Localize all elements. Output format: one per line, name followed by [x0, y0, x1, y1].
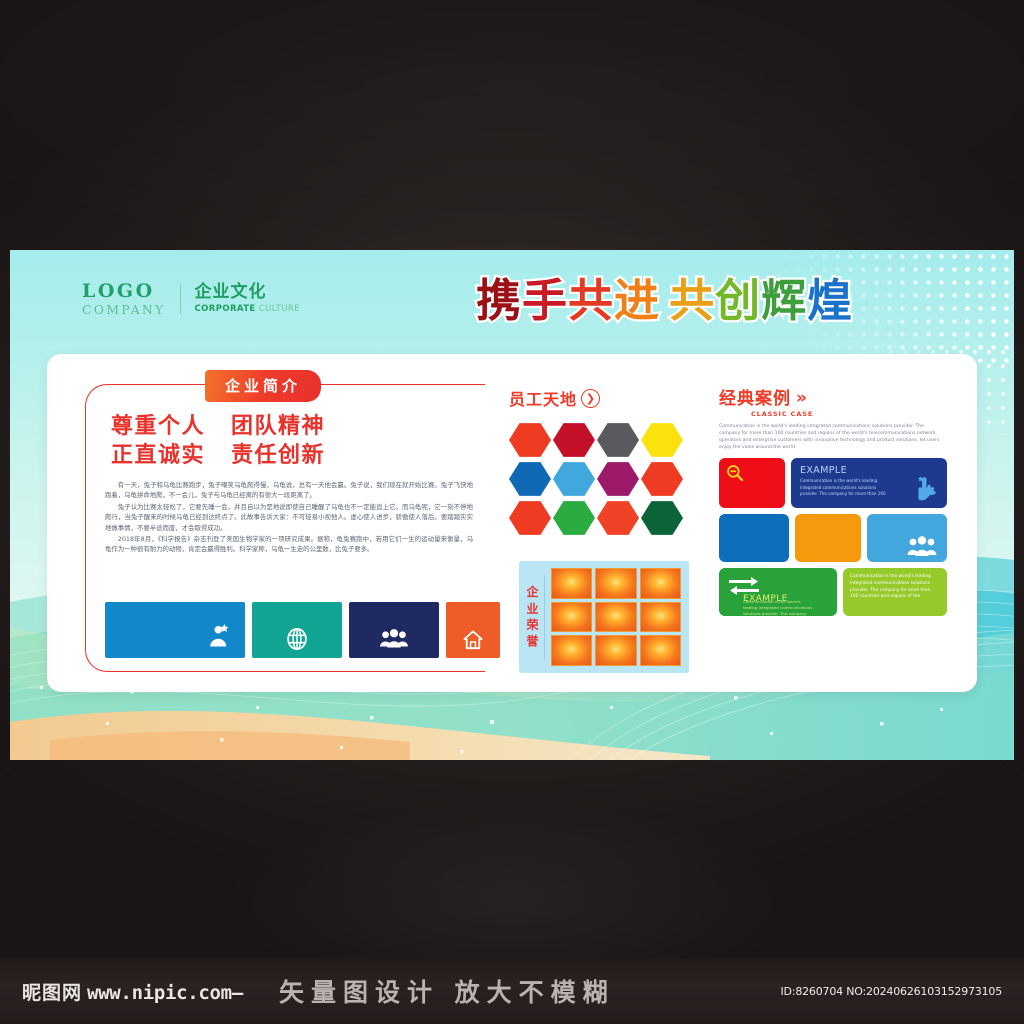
- case-tile-text[interactable]: Communication is the world's leading int…: [843, 568, 947, 616]
- case-row: EXAMPLE Communication is the world's lea…: [719, 568, 947, 616]
- intro-paragraph: 兔子认为比赛太轻松了，它要先睡一会，并且自以为是地说即使自己睡醒了乌龟也不一定能…: [105, 502, 473, 533]
- honor-label-char: 业: [525, 602, 540, 616]
- hexagon-cell[interactable]: [597, 461, 639, 497]
- company-intro-section: 企业简介 尊重个人团队精神 正直诚实责任创新 有一天，兔子和乌龟比赛跑步，兔子嘲…: [85, 384, 485, 672]
- hexagon-cell[interactable]: [597, 500, 639, 536]
- classic-case-section: 经典案例 » CLASSIC CASE Communication is the…: [719, 384, 947, 622]
- hexagon-cell[interactable]: [597, 422, 639, 458]
- case-text-body: Communication is the world's leading int…: [850, 574, 938, 601]
- company-honor-label: 企业荣誉: [525, 575, 545, 659]
- hexagon-cell[interactable]: [509, 500, 551, 536]
- company-honor-panel: 企业荣誉: [519, 561, 689, 673]
- logo-cn-subtitle: CORPORATE CULTURE: [195, 305, 300, 314]
- logo-cn-block: 企业文化 CORPORATE CULTURE: [195, 284, 300, 314]
- honor-label-char: 企: [525, 585, 540, 599]
- title-char: 创: [715, 278, 761, 323]
- honor-cell[interactable]: [640, 635, 681, 666]
- honor-cell[interactable]: [640, 602, 681, 633]
- home-icon: [461, 628, 485, 652]
- logo-sub-text: COMPANY: [82, 304, 166, 317]
- globe-icon: [284, 626, 310, 652]
- logo-block: LOGO COMPANY 企业文化 CORPORATE CULTURE: [82, 282, 300, 317]
- case-tile-blue[interactable]: [719, 514, 789, 562]
- case-tile-example-green[interactable]: EXAMPLE Communication is the world's lea…: [719, 568, 837, 616]
- title-char: 进: [614, 278, 660, 323]
- intro-paragraph: 2018年8月，《科学报告》杂志刊登了美国生物学家的一项研究成果。据称，龟兔赛跑…: [105, 534, 473, 555]
- company-intro-badge: 企业简介: [205, 370, 321, 402]
- employee-zone-heading: 员工天地 ❯: [509, 386, 704, 410]
- title-char: 手: [522, 278, 568, 323]
- people-icon: [906, 533, 938, 559]
- classic-case-subtitle: CLASSIC CASE: [751, 410, 947, 418]
- logo-cn-title: 企业文化: [195, 284, 300, 302]
- title-char: 辉: [761, 278, 807, 323]
- hexagon-photo-grid: [509, 422, 687, 536]
- company-honor-grid: [551, 568, 681, 666]
- honor-cell[interactable]: [551, 635, 592, 666]
- intro-icon-row: [105, 602, 500, 658]
- case-row: EXAMPLE Communication is the world's lea…: [719, 458, 947, 508]
- watermark-site-url: www.nipic.com—: [87, 982, 243, 1004]
- poster-canvas: LOGO COMPANY 企业文化 CORPORATE CULTURE 携手共进…: [10, 250, 1014, 760]
- page-title: 携手共进共创辉煌: [476, 278, 853, 323]
- intro-paragraph: 有一天，兔子和乌龟比赛跑步，兔子嘲笑乌龟爬得慢，乌龟说，总有一天他会赢。兔子说，…: [105, 480, 473, 501]
- title-char: 共: [568, 278, 614, 323]
- icon-tile-person-star[interactable]: [105, 602, 245, 658]
- employee-zone-section: 员工天地 ❯ 企业荣誉: [509, 386, 704, 536]
- slogan-2a: 正直诚实: [111, 443, 205, 468]
- logo-main-text: LOGO: [82, 282, 166, 301]
- watermark-id: ID:8260704 NO:20240626103152973105: [781, 985, 1002, 998]
- hexagon-cell[interactable]: [553, 422, 595, 458]
- example-navy-body: Communication is the world's leading int…: [800, 478, 888, 496]
- classic-case-description: Communication is the world's leading int…: [719, 423, 941, 451]
- watermark-bar: 昵图网 www.nipic.com— 矢量图设计 放大不模糊 ID:826070…: [0, 958, 1024, 1024]
- hexagon-cell[interactable]: [553, 500, 595, 536]
- slogan-2b: 责任创新: [231, 443, 325, 468]
- hexagon-cell[interactable]: [509, 461, 551, 497]
- honor-cell[interactable]: [551, 602, 592, 633]
- double-chevron-icon: »: [796, 387, 807, 409]
- hexagon-cell[interactable]: [641, 422, 683, 458]
- hexagon-cell[interactable]: [641, 461, 683, 497]
- classic-case-tiles: EXAMPLE Communication is the world's lea…: [719, 458, 947, 616]
- company-intro-body: 有一天，兔子和乌龟比赛跑步，兔子嘲笑乌龟爬得慢，乌龟说，总有一天他会赢。兔子说，…: [105, 480, 473, 556]
- case-tile-magnifier[interactable]: [719, 458, 785, 508]
- honor-cell[interactable]: [640, 568, 681, 599]
- employee-zone-title: 员工天地: [509, 386, 577, 410]
- honor-cell[interactable]: [595, 635, 636, 666]
- icon-tile-globe[interactable]: [252, 602, 342, 658]
- hexagon-cell[interactable]: [553, 461, 595, 497]
- company-slogan: 尊重个人团队精神 正直诚实责任创新: [111, 412, 325, 470]
- case-tile-example-navy[interactable]: EXAMPLE Communication is the world's lea…: [791, 458, 947, 508]
- logo-text: LOGO COMPANY: [82, 282, 166, 317]
- hexagon-cell[interactable]: [641, 500, 683, 536]
- person-star-icon: [205, 622, 235, 652]
- watermark-slogan: 矢量图设计 放大不模糊: [279, 973, 615, 1009]
- slogan-1a: 尊重个人: [111, 414, 205, 439]
- watermark-site: 昵图网 www.nipic.com—: [22, 978, 243, 1005]
- title-char: 煌: [807, 278, 853, 323]
- case-row: [719, 514, 947, 562]
- case-tile-people[interactable]: [867, 514, 947, 562]
- honor-cell[interactable]: [595, 602, 636, 633]
- content-card: 企业简介 尊重个人团队精神 正直诚实责任创新 有一天，兔子和乌龟比赛跑步，兔子嘲…: [47, 354, 977, 692]
- honor-label-char: 荣: [525, 618, 540, 632]
- logo-cn-subtitle-light: CULTURE: [259, 304, 300, 314]
- slogan-1b: 团队精神: [231, 414, 325, 439]
- title-char: 共: [669, 278, 715, 323]
- people-group-icon: [379, 626, 409, 652]
- icon-tile-home[interactable]: [446, 602, 500, 658]
- chevron-right-icon[interactable]: ❯: [581, 389, 600, 408]
- title-char: 携: [476, 278, 522, 323]
- example-green-body: Communication is the world's leading int…: [743, 599, 815, 617]
- classic-case-heading: 经典案例 »: [719, 384, 947, 409]
- honor-cell[interactable]: [595, 568, 636, 599]
- hexagon-cell[interactable]: [509, 422, 551, 458]
- example-navy-title: EXAMPLE: [800, 465, 847, 476]
- hand-pointer-icon: [914, 475, 940, 507]
- icon-tile-people-group[interactable]: [349, 602, 439, 658]
- honor-label-char: 誉: [525, 634, 540, 648]
- watermark-site-cn: 昵图网: [22, 978, 82, 1005]
- classic-case-title: 经典案例: [719, 384, 791, 409]
- honor-cell[interactable]: [551, 568, 592, 599]
- logo-divider: [180, 284, 181, 314]
- case-tile-orange[interactable]: [795, 514, 861, 562]
- logo-cn-subtitle-bold: CORPORATE: [195, 304, 256, 314]
- magnifier-minus-icon: [725, 463, 745, 483]
